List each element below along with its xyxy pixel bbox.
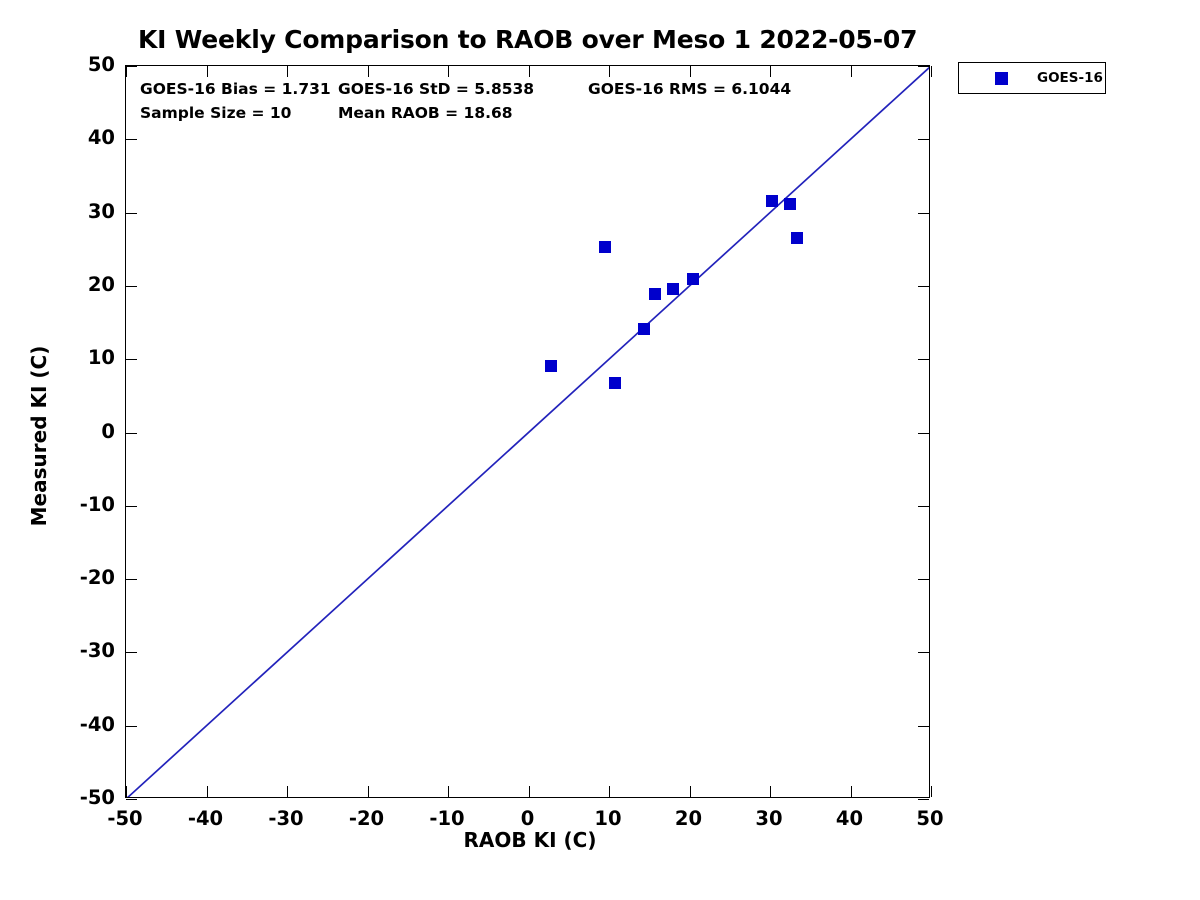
- y-tick-label-30: 30: [55, 200, 115, 223]
- y-tick-label-20: 20: [55, 273, 115, 296]
- y-tick-right-50: [918, 66, 929, 67]
- y-tick-label--20: -20: [55, 566, 115, 589]
- x-tick-label--10: -10: [412, 807, 482, 830]
- y-tick-right--50: [918, 799, 929, 800]
- x-tick-top--40: [207, 66, 208, 77]
- x-tick-30: [770, 786, 771, 797]
- x-tick--20: [368, 786, 369, 797]
- x-tick-top--50: [126, 66, 127, 77]
- stat-bias: GOES-16 Bias = 1.731: [140, 80, 331, 98]
- legend[interactable]: GOES-16: [958, 62, 1106, 94]
- x-tick-top-10: [609, 66, 610, 77]
- x-tick--10: [448, 786, 449, 797]
- y-tick-label-0: 0: [55, 420, 115, 443]
- data-point: [791, 232, 803, 244]
- data-point: [687, 273, 699, 285]
- x-tick-label--40: -40: [171, 807, 241, 830]
- x-tick-label-40: 40: [815, 807, 885, 830]
- x-tick-top-20: [690, 66, 691, 77]
- stat-sample-size: Sample Size = 10: [140, 104, 291, 122]
- y-tick-label-50: 50: [55, 53, 115, 76]
- x-tick-label--20: -20: [332, 807, 402, 830]
- y-axis-title: Measured KI (C): [27, 286, 51, 586]
- y-tick-10: [126, 359, 137, 360]
- data-point: [599, 241, 611, 253]
- y-tick-right-30: [918, 213, 929, 214]
- y-tick-right-0: [918, 433, 929, 434]
- y-tick-label--10: -10: [55, 493, 115, 516]
- x-tick-label-30: 30: [734, 807, 804, 830]
- x-tick-top-50: [931, 66, 932, 77]
- data-point: [784, 198, 796, 210]
- plot-area: [125, 65, 930, 798]
- x-axis-title: RAOB KI (C): [0, 828, 1060, 852]
- y-tick-right-20: [918, 286, 929, 287]
- y-tick-right--20: [918, 579, 929, 580]
- y-tick-label-10: 10: [55, 346, 115, 369]
- data-point: [545, 360, 557, 372]
- plot-inner: [126, 66, 929, 797]
- stat-rms: GOES-16 RMS = 6.1044: [588, 80, 791, 98]
- y-tick--50: [126, 799, 137, 800]
- x-tick-10: [609, 786, 610, 797]
- legend-swatch-goes-16: [995, 72, 1008, 85]
- x-tick-top--10: [448, 66, 449, 77]
- y-tick-label--40: -40: [55, 713, 115, 736]
- x-tick-label-10: 10: [573, 807, 643, 830]
- x-tick-top-40: [851, 66, 852, 77]
- x-tick-0: [529, 786, 530, 797]
- stat-std: GOES-16 StD = 5.8538: [338, 80, 534, 98]
- stat-mean-raob: Mean RAOB = 18.68: [338, 104, 513, 122]
- x-tick-label--30: -30: [251, 807, 321, 830]
- x-tick-top-30: [770, 66, 771, 77]
- x-tick--40: [207, 786, 208, 797]
- x-tick-label-20: 20: [654, 807, 724, 830]
- y-tick-20: [126, 286, 137, 287]
- y-tick--20: [126, 579, 137, 580]
- y-tick-0: [126, 433, 137, 434]
- legend-label-goes-16: GOES-16: [1037, 70, 1103, 86]
- y-tick-50: [126, 66, 137, 67]
- x-tick-top--20: [368, 66, 369, 77]
- x-tick-label-0: 0: [493, 807, 563, 830]
- y-tick-right--30: [918, 652, 929, 653]
- y-tick--10: [126, 506, 137, 507]
- x-tick-40: [851, 786, 852, 797]
- y-tick-right--40: [918, 726, 929, 727]
- y-tick-label--30: -30: [55, 639, 115, 662]
- y-tick--30: [126, 652, 137, 653]
- data-point: [766, 195, 778, 207]
- y-tick-label-40: 40: [55, 126, 115, 149]
- x-tick-label-50: 50: [895, 807, 965, 830]
- y-tick-40: [126, 139, 137, 140]
- y-tick-30: [126, 213, 137, 214]
- x-tick-50: [931, 786, 932, 797]
- page-title: KI Weekly Comparison to RAOB over Meso 1…: [138, 25, 917, 54]
- x-tick--50: [126, 786, 127, 797]
- chart-canvas: KI Weekly Comparison to RAOB over Meso 1…: [0, 0, 1200, 900]
- x-tick-20: [690, 786, 691, 797]
- x-tick-top-0: [529, 66, 530, 77]
- y-tick--40: [126, 726, 137, 727]
- data-point: [667, 283, 679, 295]
- x-tick-top--30: [287, 66, 288, 77]
- y-tick-label--50: -50: [55, 786, 115, 809]
- x-tick-label--50: -50: [90, 807, 160, 830]
- data-point: [649, 288, 661, 300]
- y-tick-right--10: [918, 506, 929, 507]
- y-tick-right-40: [918, 139, 929, 140]
- one-to-one-line: [126, 66, 929, 797]
- data-point: [609, 377, 621, 389]
- y-tick-right-10: [918, 359, 929, 360]
- data-point: [638, 323, 650, 335]
- x-tick--30: [287, 786, 288, 797]
